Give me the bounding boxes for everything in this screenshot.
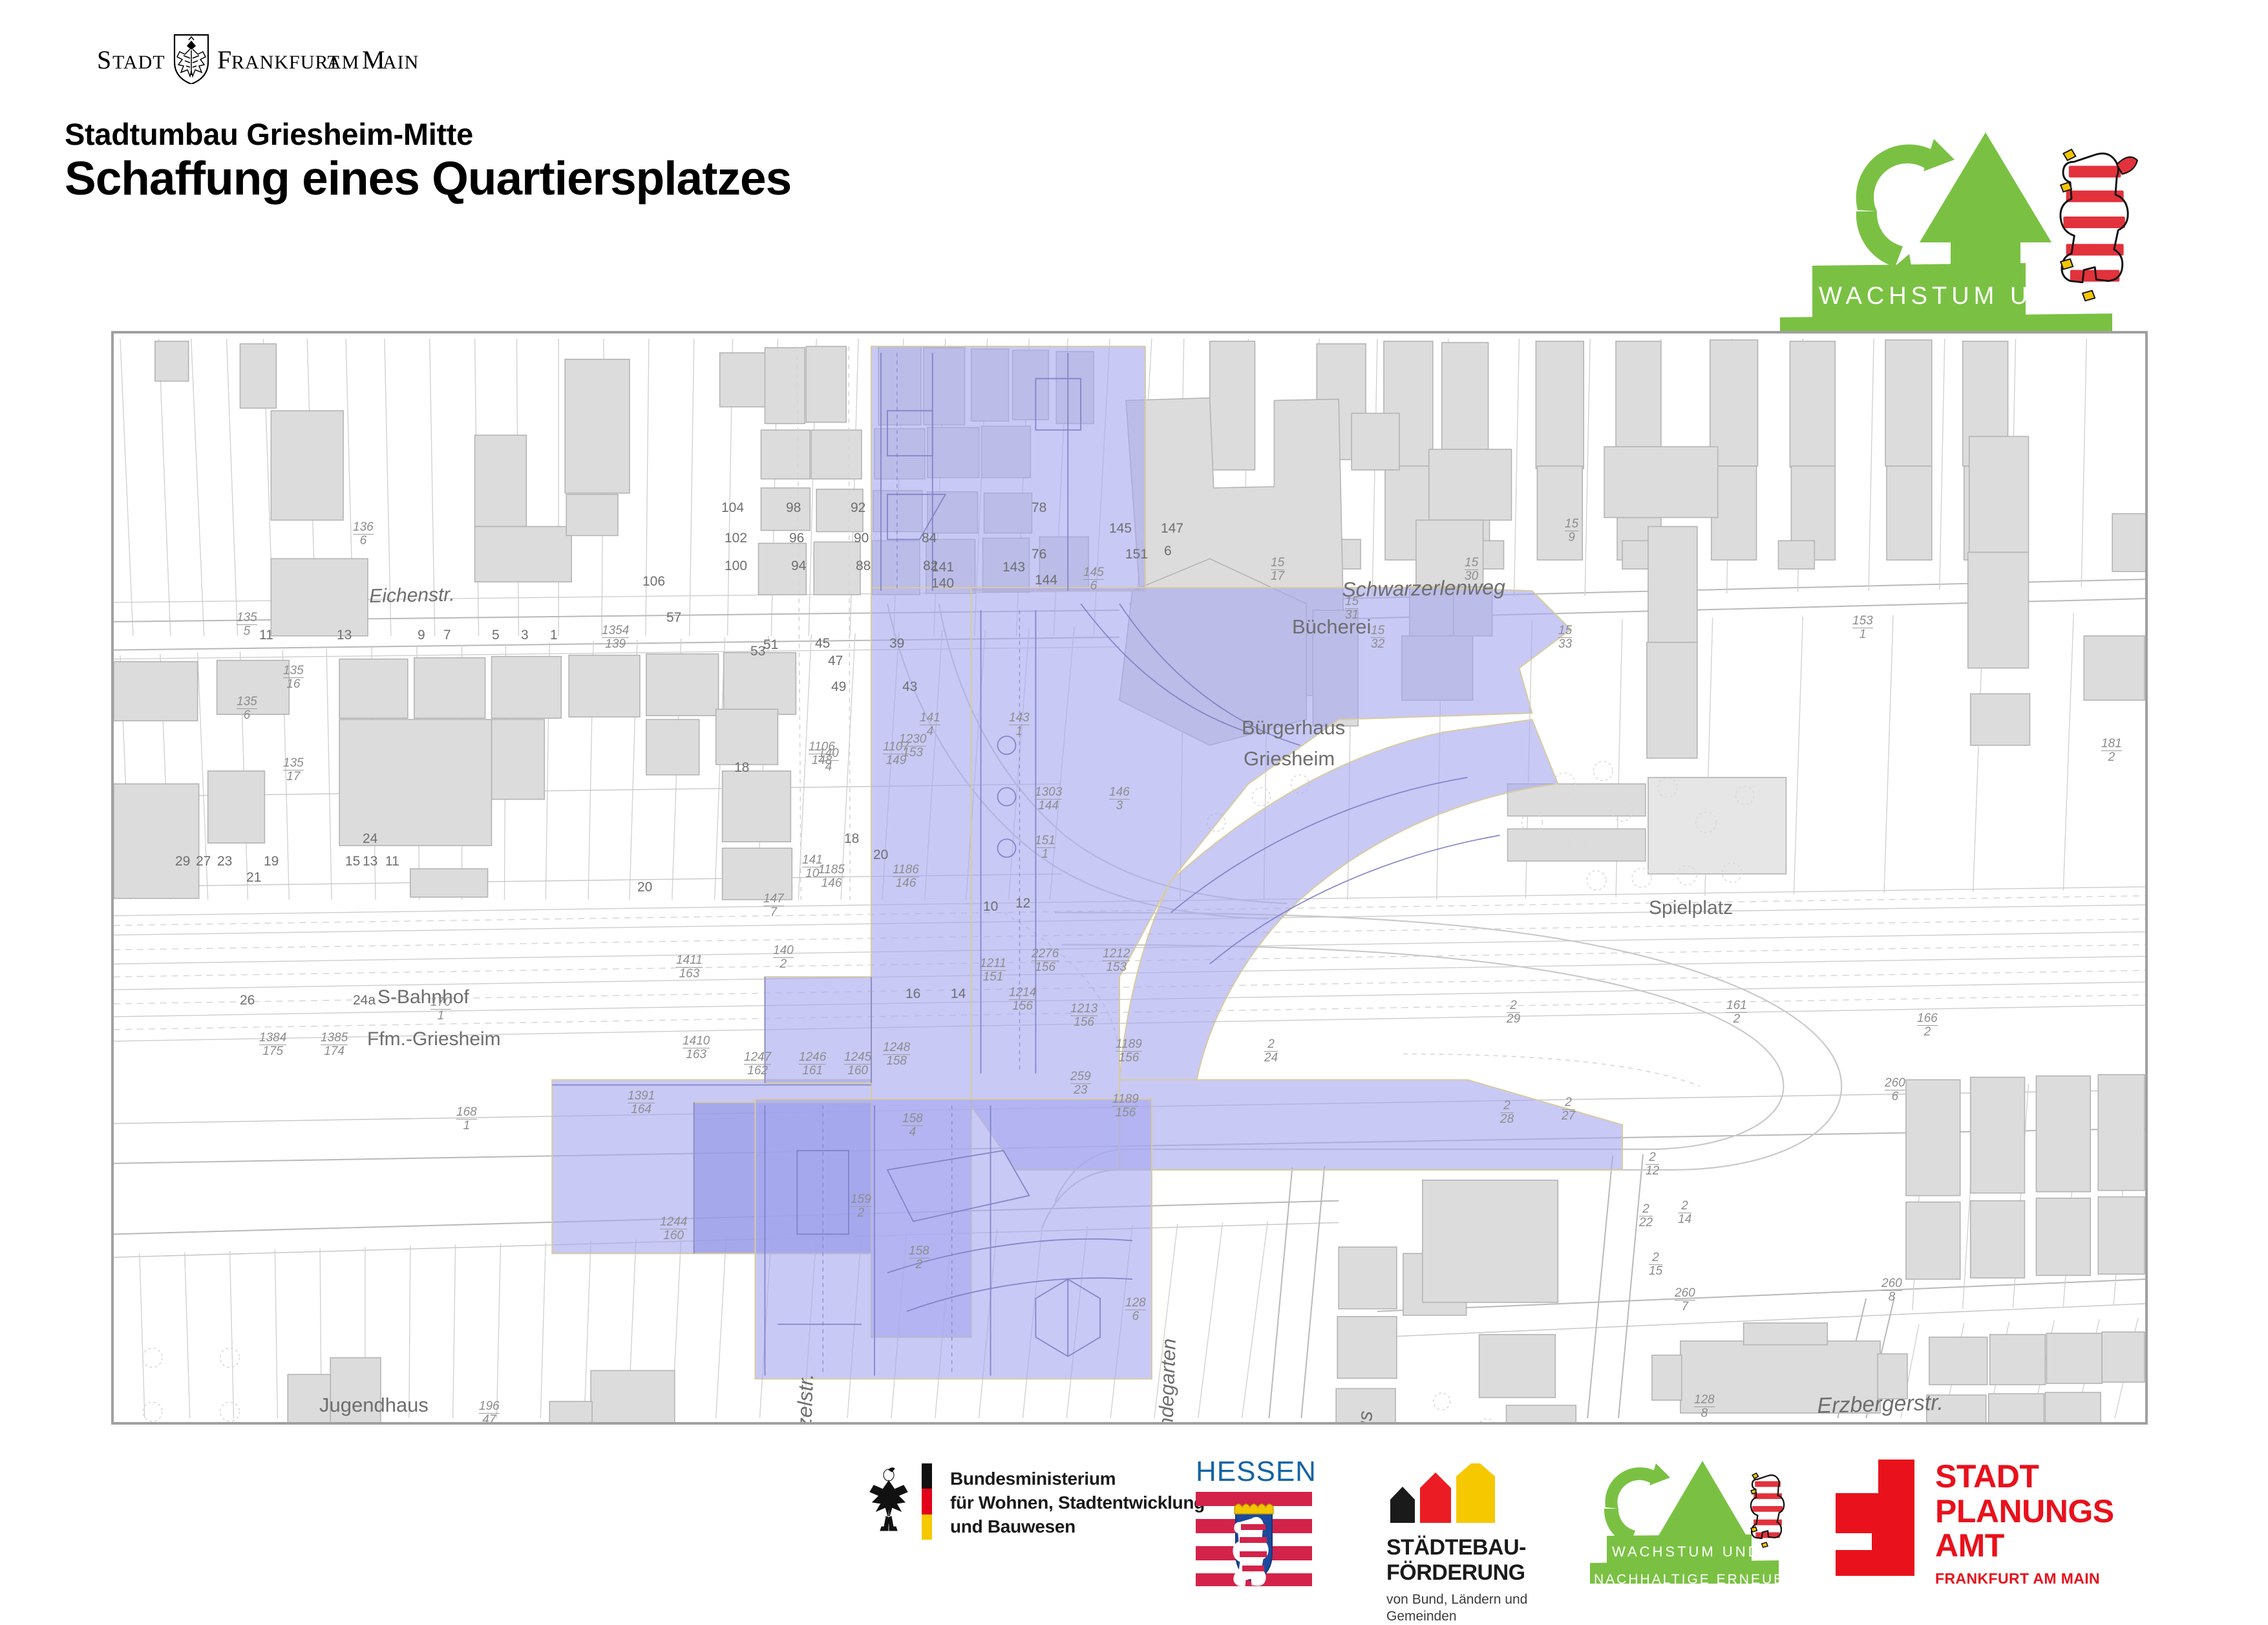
parcel-number: 1410163 [683, 1035, 710, 1061]
footer-logo-row: Bundesministerium für Wohnen, Stadtentwi… [0, 1448, 2268, 1590]
project-subtitle: Stadtumbau Griesheim-Mitte [65, 116, 473, 152]
parcel-number: 224 [1264, 1038, 1278, 1064]
house-number: 10 [983, 899, 998, 915]
house-number: 19 [264, 854, 279, 869]
spa-sub: FRANKFURT AM MAIN [1935, 1570, 2114, 1588]
staedtebau-sub1: von Bund, Ländern und [1386, 1591, 1527, 1608]
parcel-number: 1384175 [259, 1032, 286, 1057]
house-number: 147 [1161, 521, 1183, 536]
house-number: 98 [786, 500, 801, 516]
parcel-number: 1592 [851, 1193, 871, 1219]
parcel-number: 229 [1507, 999, 1520, 1025]
svg-text:AM: AM [327, 52, 359, 73]
house-number: 78 [1032, 500, 1046, 516]
staedtebau-sub2: Gemeinden [1386, 1608, 1527, 1625]
house-number: 18 [844, 831, 859, 847]
parcel-number: 1186146 [893, 864, 919, 889]
house-number: 11 [385, 854, 399, 869]
house-number: 100 [725, 558, 747, 574]
house-number: 39 [889, 636, 904, 652]
parcel-number: 1106148 [809, 741, 835, 767]
house-number: 90 [854, 531, 869, 546]
house-number: 13 [337, 628, 352, 643]
parcel-number: 25923 [1070, 1070, 1091, 1096]
svg-text:F: F [217, 45, 231, 74]
house-number: 45 [815, 636, 830, 652]
house-number: 102 [725, 531, 747, 546]
house-number: 18 [734, 760, 749, 776]
house-number: 144 [1035, 573, 1057, 588]
house-number: 92 [851, 500, 865, 516]
parcel-number: 1662 [1917, 1012, 1938, 1038]
parcel-number: 215 [1649, 1251, 1662, 1277]
house-number: 24 [363, 831, 377, 847]
house-number: 151 [1125, 547, 1148, 562]
parcel-number: 1532 [1371, 624, 1384, 650]
parcel-number: 1812 [2101, 738, 2122, 763]
house-number: 84 [922, 531, 937, 546]
parcel-number: 1356 [237, 696, 257, 721]
house-number: 11 [259, 628, 273, 643]
house-number: 49 [831, 679, 846, 695]
svg-text:AIN: AIN [383, 52, 419, 73]
house-number: 12 [1015, 896, 1030, 911]
svg-text:M: M [362, 45, 385, 74]
parcel-number: 1244160 [660, 1216, 687, 1242]
parcel-number: 1354139 [602, 624, 629, 650]
page-title: Schaffung eines Quartiersplatzes [65, 152, 791, 206]
city-of-frankfurt-logo: S TADT F RANKFURT AM M AIN [97, 32, 511, 81]
map-vector-layer [114, 334, 2145, 1422]
bundesadler-icon [860, 1463, 918, 1540]
parcel-number: 1533 [1558, 624, 1572, 650]
svg-text:S: S [97, 45, 112, 74]
house-number: 5 [492, 628, 500, 643]
stadtplanungsamt-logo: STADT PLANUNGS AMT FRANKFURT AM MAIN [1836, 1460, 2114, 1588]
parcel-number: 1477 [763, 893, 784, 919]
frankfurt-wordmark-svg: S TADT F RANKFURT AM M AIN [97, 32, 511, 84]
parcel-number: 1701 [430, 996, 451, 1022]
flag-gold [922, 1514, 932, 1540]
parcel-number: 1189156 [1116, 1038, 1142, 1064]
three-houses-icon [1386, 1463, 1503, 1523]
house-number: 1 [550, 628, 558, 643]
staedtebaufoerderung-logo: STÄDTEBAU- FÖRDERUNG von Bund, Ländern u… [1386, 1463, 1527, 1625]
parcel-number: 1230153 [899, 733, 926, 759]
hessen-wordmark: HESSEN [1196, 1456, 1317, 1488]
parcel-number: 1517 [1271, 557, 1284, 582]
parcel-number: 2608 [1881, 1277, 1902, 1303]
parcel-number: 227 [1562, 1096, 1575, 1122]
house-number: 106 [642, 574, 665, 589]
parcel-number: 1385174 [321, 1032, 348, 1057]
parcel-number: 1681 [456, 1106, 477, 1132]
parcel-number: 1511 [1035, 834, 1055, 860]
parcel-number: 1530 [1465, 557, 1478, 582]
house-number: 29 [175, 854, 190, 869]
spa-line2: PLANUNGS [1935, 1494, 2114, 1529]
staedtebau-line2: FÖRDERUNG [1386, 1560, 1527, 1586]
parcel-number: 2607 [1675, 1287, 1695, 1313]
parcel-number: 1366 [353, 521, 374, 547]
parcel-number: 1463 [1109, 786, 1130, 812]
house-number: 3 [521, 628, 529, 643]
parcel-number: 1185146 [818, 864, 845, 889]
house-number: 57 [666, 610, 681, 626]
parcel-number: 1584 [902, 1112, 923, 1138]
house-number: 96 [789, 531, 804, 546]
parcel-number: 1612 [1726, 999, 1747, 1025]
hessen-coat-of-arms-icon [1196, 1491, 1312, 1588]
house-number: 7 [443, 628, 451, 643]
parcel-number: 2606 [1885, 1077, 1905, 1103]
bmwsb-line3: und Bauwesen [950, 1515, 1205, 1539]
parcel-number: 159 [1565, 518, 1578, 544]
wachstum-erneuerung-logo-small: WACHSTUM UND NACHHALTIGE ERNEUERUNG STÄD… [1590, 1454, 1823, 1587]
parcel-number: 13517 [283, 757, 304, 783]
staedtebau-line1: STÄDTEBAU- [1386, 1535, 1527, 1560]
house-number: 9 [418, 628, 425, 643]
house-number: 14 [951, 986, 966, 1002]
hessen-lion-icon-small [1751, 1473, 1784, 1547]
parcel-number: 1246161 [799, 1051, 826, 1077]
house-number: 143 [1002, 560, 1025, 575]
bmwsb-logo: Bundesministerium für Wohnen, Stadtentwi… [860, 1463, 1205, 1540]
parcel-number: 13516 [283, 664, 304, 690]
parcel-number: 228 [1500, 1099, 1514, 1125]
parcel-number: 1288 [1694, 1394, 1715, 1419]
house-number: 21 [246, 870, 261, 886]
flag-black [922, 1463, 932, 1489]
cadastral-map[interactable]: Eichenstr.SchwarzerlenwegBüchereiBürgerh… [111, 331, 2148, 1425]
parcel-number: 1286 [1125, 1297, 1146, 1322]
parcel-number: 1247162 [744, 1051, 771, 1077]
wachstum-small-line2: NACHHALTIGE ERNEUERUNG [1594, 1572, 1823, 1584]
parcel-number: 1531 [1345, 595, 1359, 621]
parcel-number: 1245160 [844, 1051, 871, 1077]
house-number: 51 [763, 637, 778, 653]
parcel-number: 1214156 [1009, 986, 1036, 1012]
parcel-number: 1213156 [1070, 1003, 1097, 1028]
svg-text:TADT: TADT [112, 52, 165, 73]
house-number: 76 [1032, 547, 1046, 562]
parcel-number: 1212153 [1103, 948, 1130, 973]
parcel-number: 2276156 [1032, 948, 1059, 973]
parcel-number: 1431 [1009, 712, 1030, 738]
house-number: 24a [353, 993, 376, 1008]
house-number: 47 [828, 653, 843, 669]
spa-line3: AMT [1935, 1529, 2114, 1564]
wachstum-line1: WACHSTUM UND [1819, 282, 2077, 310]
house-number: 145 [1109, 521, 1132, 536]
parcel-number: 1531 [1852, 615, 1873, 641]
house-number: 140 [931, 576, 954, 591]
house-number: 26 [240, 993, 255, 1008]
bmwsb-line1: Bundesministerium [950, 1467, 1205, 1491]
house-number: 82 [923, 558, 938, 574]
wachstum-small-line1: WACHSTUM UND [1612, 1544, 1761, 1560]
house-number: 13 [363, 854, 377, 869]
parcel-number: 1411163 [676, 954, 703, 980]
house-number: 6 [1164, 544, 1172, 559]
svg-text:RANKFURT: RANKFURT [231, 52, 340, 73]
parcel-number: 1456 [1083, 566, 1104, 592]
house-number: 20 [873, 847, 888, 863]
parcel-number: 214 [1678, 1200, 1691, 1226]
parcel-number: 1391164 [628, 1090, 655, 1116]
flag-red [922, 1489, 932, 1514]
bmwsb-line2: für Wohnen, Stadtentwicklung [950, 1491, 1205, 1515]
house-number: 27 [196, 854, 211, 869]
house-number: 53 [750, 644, 765, 659]
house-number: 15 [345, 854, 360, 869]
parcel-number: 1211151 [980, 957, 1006, 983]
stadtplanungsamt-mark-icon [1836, 1460, 1914, 1576]
parcel-number: 212 [1646, 1151, 1659, 1177]
house-number: 94 [791, 558, 806, 574]
parcel-number: 19647 [479, 1400, 500, 1425]
parcel-number: 1189156 [1112, 1093, 1139, 1119]
parcel-number: 1248158 [883, 1041, 910, 1067]
hessen-lion-icon [2061, 149, 2137, 301]
parcel-number: 1303144 [1035, 786, 1062, 812]
hessen-logo: HESSEN [1196, 1456, 1317, 1591]
parcel-number: 1355 [237, 611, 257, 637]
house-number: 23 [217, 854, 232, 869]
frankfurt-eagle-icon [175, 35, 208, 84]
parcel-number: 1582 [909, 1245, 929, 1271]
parcel-number: 222 [1639, 1203, 1653, 1229]
house-number: 20 [637, 880, 652, 895]
house-number: 43 [902, 679, 917, 695]
house-number: 104 [721, 500, 744, 516]
spa-line1: STADT [1935, 1460, 2114, 1494]
parcel-number: 1402 [773, 944, 794, 970]
house-number: 16 [906, 986, 920, 1002]
house-number: 88 [856, 558, 871, 574]
wachstum-small-banner-2: NACHHALTIGE ERNEUERUNG [1590, 1560, 1823, 1584]
